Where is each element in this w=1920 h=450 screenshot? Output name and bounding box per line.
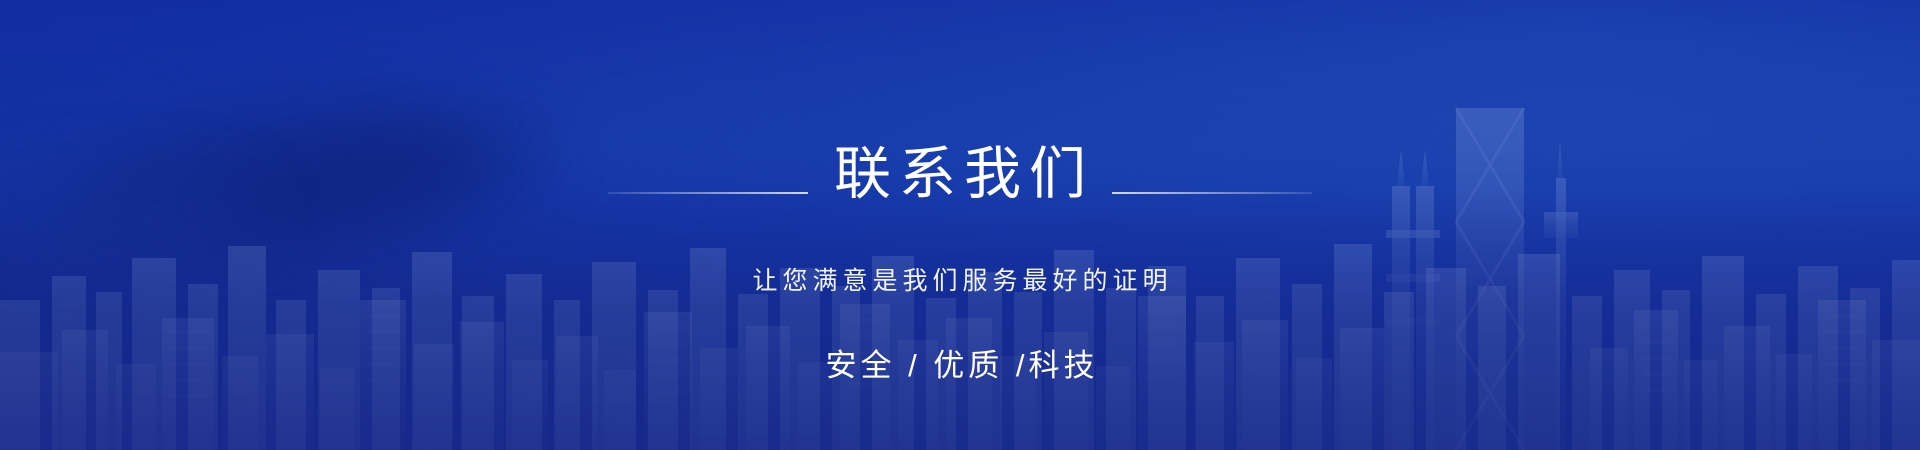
hero-content: 联系我们 让您满意是我们服务最好的证明 安全 / 优质 /科技 (0, 0, 1920, 450)
left-divider-rule (608, 192, 808, 194)
page-tagline: 安全 / 优质 /科技 (821, 350, 1098, 381)
page-subtitle: 让您满意是我们服务最好的证明 (747, 269, 1172, 294)
title-row: 联系我们 (0, 126, 1920, 259)
right-divider-rule (1112, 192, 1312, 194)
contact-us-hero-banner: 联系我们 让您满意是我们服务最好的证明 安全 / 优质 /科技 (0, 0, 1920, 450)
page-title: 联系我们 (808, 146, 1112, 203)
